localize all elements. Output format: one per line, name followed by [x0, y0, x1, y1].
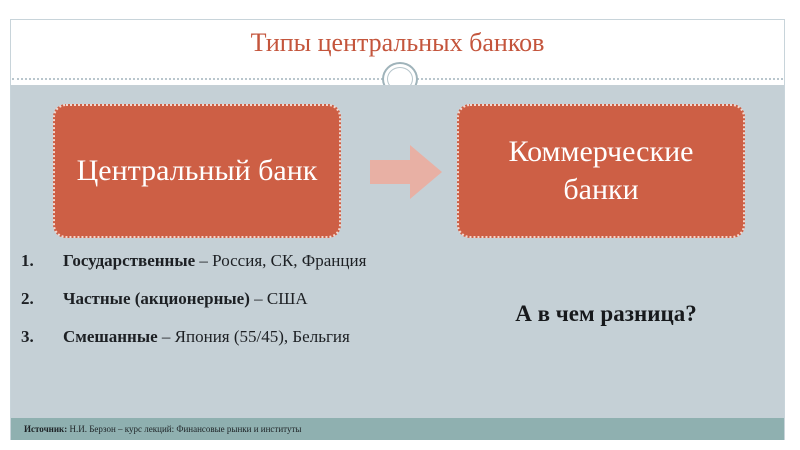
list-item-number: 1. — [21, 250, 34, 272]
list-item-term: Государственные — [63, 251, 195, 270]
list-item-detail: – США — [250, 289, 308, 308]
slide-canvas: Типы центральных банков Центральный банк… — [0, 0, 800, 450]
list-item-term: Частные (акционерные) — [63, 289, 250, 308]
list-item: 1. Государственные – Россия, СК, Франция — [16, 250, 416, 272]
list-item-number: 3. — [21, 326, 34, 348]
numbered-list: 1. Государственные – Россия, СК, Франция… — [16, 250, 416, 348]
question-text: А в чем разница? — [456, 301, 756, 327]
page-title: Типы центральных банков — [11, 26, 784, 60]
list-item-detail: – Россия, СК, Франция — [195, 251, 366, 270]
source-value: Н.И. Берзон – курс лекций: Финансовые ры… — [67, 424, 301, 434]
list-item: 3. Смешанные – Япония (55/45), Бельгия — [16, 326, 416, 348]
arrow-right-icon — [370, 145, 442, 199]
concept-box-central-bank[interactable]: Центральный банк — [53, 104, 341, 238]
list-item: 2. Частные (акционерные) – США — [16, 288, 416, 310]
source-citation: Источник: Н.И. Берзон – курс лекций: Фин… — [24, 422, 301, 436]
list-item-detail: – Япония (55/45), Бельгия — [158, 327, 350, 346]
source-label: Источник: — [24, 424, 67, 434]
list-item-number: 2. — [21, 288, 34, 310]
concept-box-commercial-banks[interactable]: Коммерческие банки — [457, 104, 745, 238]
list-item-term: Смешанные — [63, 327, 158, 346]
